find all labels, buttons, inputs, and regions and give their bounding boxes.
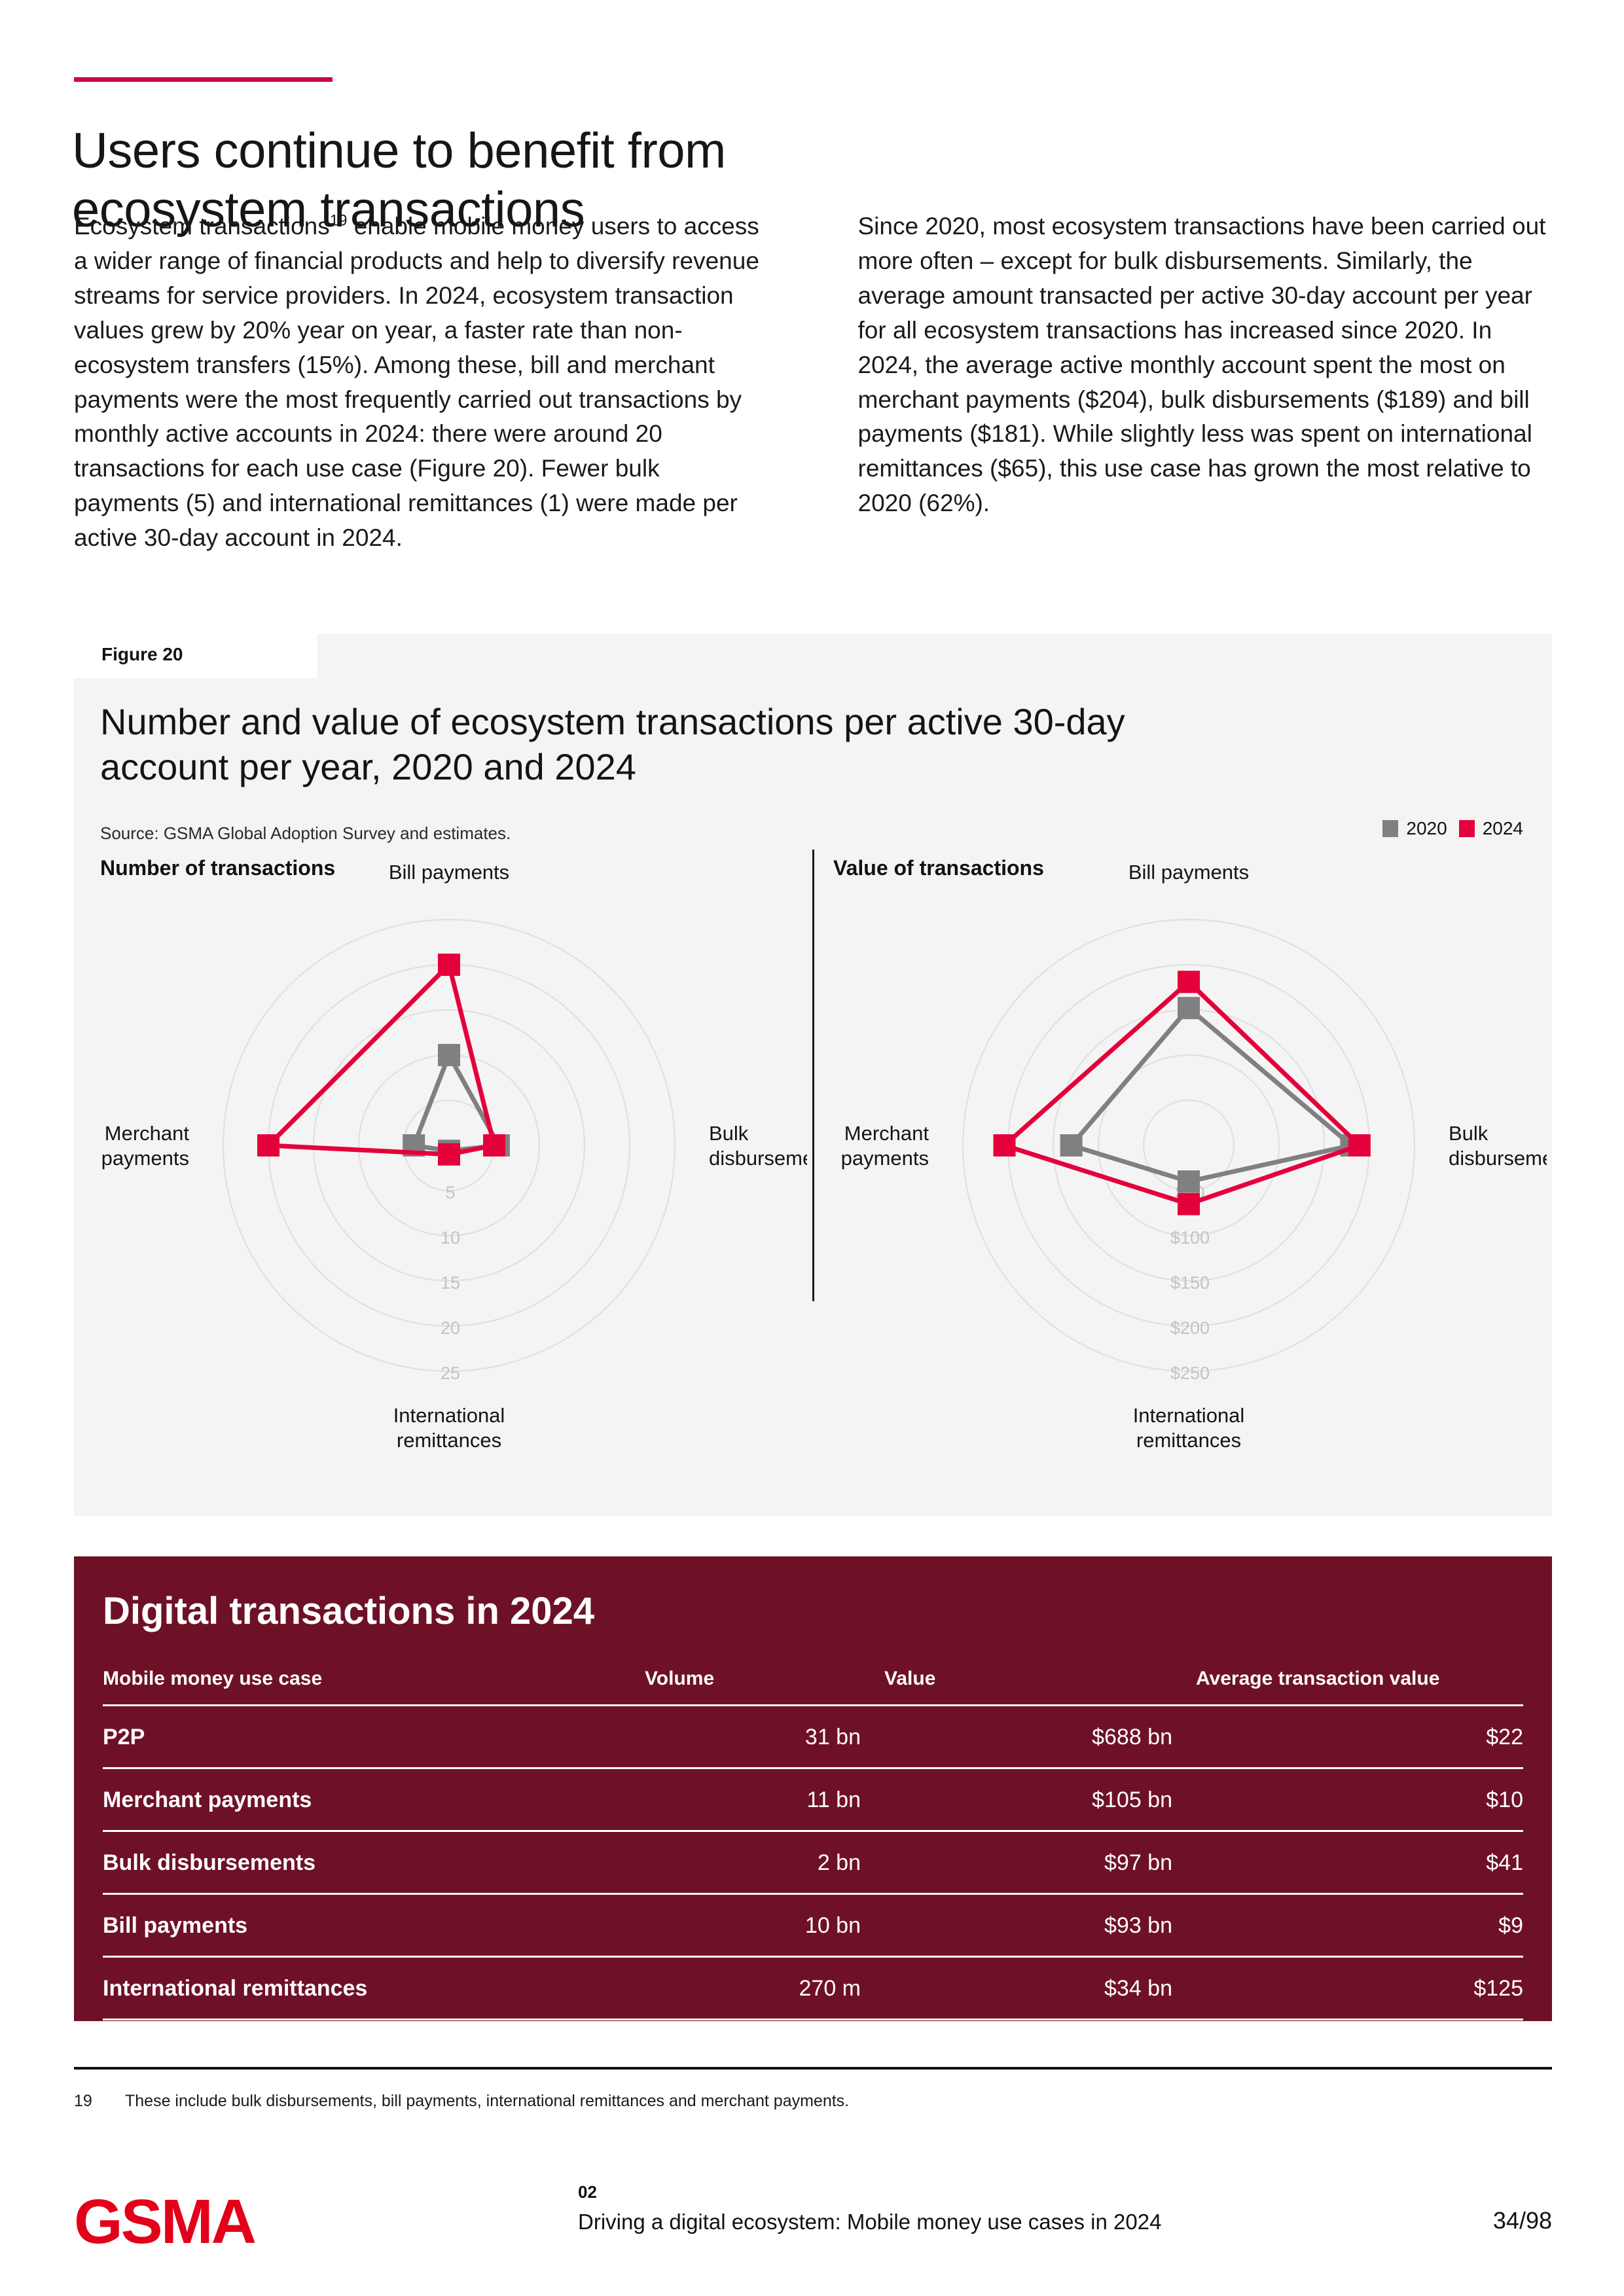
legend-label-2020: 2020 xyxy=(1406,818,1447,839)
radar-tick-label: $200 xyxy=(1170,1318,1210,1338)
figure-source: Source: GSMA Global Adoption Survey and … xyxy=(100,823,511,844)
radar-chart-value: $50$100$150$200$250Bill paymentsBulkdisb… xyxy=(827,850,1547,1491)
table-heading: Digital transactions in 2024 xyxy=(103,1589,594,1633)
footer-chapter-number: 02 xyxy=(578,2182,597,2202)
table-cell-use-case: International remittances xyxy=(103,1957,621,2020)
svg-text:International: International xyxy=(1133,1404,1245,1427)
svg-text:remittances: remittances xyxy=(1136,1429,1241,1452)
table-header-row: Mobile money use case Volume Value Avera… xyxy=(103,1668,1523,1706)
body-column-right: Since 2020, most ecosystem transactions … xyxy=(858,209,1551,556)
table-cell-use-case: Bill payments xyxy=(103,1894,621,1957)
radar-point-2024 xyxy=(1348,1134,1371,1157)
table-cell-value: $105 bn xyxy=(861,1768,1172,1831)
column-header-value: Value xyxy=(861,1668,1172,1706)
svg-text:disbursements: disbursements xyxy=(1449,1147,1547,1170)
radar-axis-label: Bulkdisbursements xyxy=(709,1122,807,1170)
radar-axis-label: Merchantpayments xyxy=(101,1122,190,1170)
radar-point-2020 xyxy=(1178,997,1200,1019)
svg-text:Bill payments: Bill payments xyxy=(389,861,509,884)
table-row: P2P31 bn$688 bn$22 xyxy=(103,1706,1523,1768)
paragraph-left-post: enable mobile money users to access a wi… xyxy=(74,213,759,551)
table-cell-use-case: P2P xyxy=(103,1706,621,1768)
svg-text:Bill payments: Bill payments xyxy=(1128,861,1249,884)
table-cell-avg: $41 xyxy=(1172,1831,1523,1894)
radar-tick-label: $100 xyxy=(1170,1228,1210,1247)
radar-point-2020 xyxy=(1178,1170,1200,1193)
radar-series-2024 xyxy=(268,965,494,1155)
gsma-logo: GSMA xyxy=(74,2186,255,2258)
radar-point-2024 xyxy=(438,1143,460,1166)
table-row: International remittances270 m$34 bn$125 xyxy=(103,1957,1523,2020)
radar-svg-value: $50$100$150$200$250Bill paymentsBulkdisb… xyxy=(827,850,1547,1491)
table-cell-avg: $125 xyxy=(1172,1957,1523,2020)
paragraph-right: Since 2020, most ecosystem transactions … xyxy=(858,209,1551,521)
table-row: Bulk disbursements2 bn$97 bn$41 xyxy=(103,1831,1523,1894)
page-footer: GSMA 02 Driving a digital ecosystem: Mob… xyxy=(74,2178,1552,2257)
column-header-volume: Volume xyxy=(621,1668,861,1706)
radar-axis-label: Bill payments xyxy=(1128,861,1249,884)
radar-point-2020 xyxy=(1060,1134,1083,1157)
svg-text:remittances: remittances xyxy=(397,1429,501,1452)
table-row: Merchant payments11 bn$105 bn$10 xyxy=(103,1768,1523,1831)
radar-tick-label: 25 xyxy=(441,1363,460,1383)
legend-swatch-2020 xyxy=(1382,820,1398,837)
svg-text:Merchant: Merchant xyxy=(105,1122,190,1145)
footnote-number: 19 xyxy=(74,2092,125,2111)
table-cell-use-case: Bulk disbursements xyxy=(103,1831,621,1894)
radar-point-2024 xyxy=(1178,1193,1200,1215)
table-cell-value: $688 bn xyxy=(861,1706,1172,1768)
digital-transactions-table-panel: Digital transactions in 2024 Mobile mone… xyxy=(74,1556,1552,2021)
footnote-rule xyxy=(74,2067,1552,2070)
footer-page-number: 34/98 xyxy=(1493,2207,1552,2234)
footnote-text: These include bulk disbursements, bill p… xyxy=(125,2092,849,2110)
radar-svg-number: 510152025Bill paymentsBulkdisbursementsI… xyxy=(87,850,807,1491)
radar-axis-label: Bulkdisbursements xyxy=(1449,1122,1547,1170)
svg-text:payments: payments xyxy=(101,1147,189,1170)
table-cell-value: $97 bn xyxy=(861,1831,1172,1894)
table-body: P2P31 bn$688 bn$22Merchant payments11 bn… xyxy=(103,1706,1523,2082)
radar-axis-label: Internationalremittances xyxy=(1133,1404,1245,1452)
legend-swatch-2024 xyxy=(1459,820,1475,837)
legend-item-2024: 2024 xyxy=(1459,818,1523,839)
column-header-avg-value: Average transaction value xyxy=(1172,1668,1523,1706)
table-cell-use-case: Airtime top-ups xyxy=(103,2020,621,2082)
table-cell-volume: 2 bn xyxy=(621,1831,861,1894)
table-cell-volume: 31 bn xyxy=(621,1706,861,1768)
table-cell-avg: $10 xyxy=(1172,1768,1523,1831)
paragraph-left-pre: Ecosystem transactions xyxy=(74,213,330,240)
legend-label-2024: 2024 xyxy=(1483,818,1523,839)
footnote: 19These include bulk disbursements, bill… xyxy=(74,2092,849,2111)
svg-text:International: International xyxy=(393,1404,505,1427)
radar-point-2024 xyxy=(438,954,460,976)
paragraph-left: Ecosystem transactions19 enable mobile m… xyxy=(74,209,767,556)
title-accent-rule xyxy=(74,77,333,82)
panel-divider xyxy=(812,850,814,1301)
table-cell-value: $20 bn xyxy=(861,2020,1172,2082)
radar-point-2020 xyxy=(438,1044,460,1066)
table-cell-use-case: Merchant payments xyxy=(103,1768,621,1831)
footnote-marker-19: 19 xyxy=(330,212,348,230)
radar-point-2024 xyxy=(1178,971,1200,993)
svg-text:Merchant: Merchant xyxy=(844,1122,929,1145)
radar-tick-label: 20 xyxy=(441,1318,460,1338)
figure-number-label: Figure 20 xyxy=(101,644,183,665)
radar-tick-label: $250 xyxy=(1170,1363,1210,1383)
table-cell-avg: $1 xyxy=(1172,2020,1523,2082)
chart-legend: 2020 2024 xyxy=(1382,818,1523,839)
radar-axis-label: Bill payments xyxy=(389,861,509,884)
table-cell-value: $34 bn xyxy=(861,1957,1172,2020)
body-columns: Ecosystem transactions19 enable mobile m… xyxy=(74,209,1550,556)
body-column-left: Ecosystem transactions19 enable mobile m… xyxy=(74,209,767,556)
svg-text:Bulk: Bulk xyxy=(1449,1122,1489,1145)
radar-tick-label: 10 xyxy=(441,1228,460,1247)
table-cell-volume: 10 bn xyxy=(621,1894,861,1957)
radar-tick-label: 15 xyxy=(441,1273,460,1293)
radar-chart-number: 510152025Bill paymentsBulkdisbursementsI… xyxy=(87,850,807,1491)
radar-tick-label: $150 xyxy=(1170,1273,1210,1293)
table-cell-volume: 29 bn xyxy=(621,2020,861,2082)
document-page: Users continue to benefit from ecosystem… xyxy=(0,0,1624,2296)
table-cell-volume: 270 m xyxy=(621,1957,861,2020)
radar-point-2024 xyxy=(257,1134,280,1157)
table-cell-value: $93 bn xyxy=(861,1894,1172,1957)
svg-text:disbursements: disbursements xyxy=(709,1147,807,1170)
legend-item-2020: 2020 xyxy=(1382,818,1447,839)
table-cell-avg: $22 xyxy=(1172,1706,1523,1768)
column-header-use-case: Mobile money use case xyxy=(103,1668,621,1706)
table-cell-volume: 11 bn xyxy=(621,1768,861,1831)
radar-point-2024 xyxy=(483,1134,505,1157)
svg-text:Bulk: Bulk xyxy=(709,1122,749,1145)
figure-heading: Number and value of ecosystem transactio… xyxy=(100,699,1174,790)
footer-chapter-title: Driving a digital ecosystem: Mobile mone… xyxy=(578,2210,1161,2234)
radar-point-2024 xyxy=(994,1134,1016,1157)
svg-text:payments: payments xyxy=(841,1147,929,1170)
radar-tick-label: 5 xyxy=(445,1183,455,1202)
radar-axis-label: Internationalremittances xyxy=(393,1404,505,1452)
radar-axis-label: Merchantpayments xyxy=(841,1122,929,1170)
figure-number-tab: Figure 20 xyxy=(74,634,317,678)
figure-20: Figure 20 Number and value of ecosystem … xyxy=(74,634,1552,1516)
table-cell-avg: $9 xyxy=(1172,1894,1523,1957)
table-row: Airtime top-ups29 bn$20 bn$1 xyxy=(103,2020,1523,2082)
digital-transactions-table: Mobile money use case Volume Value Avera… xyxy=(103,1668,1523,2081)
table-row: Bill payments10 bn$93 bn$9 xyxy=(103,1894,1523,1957)
